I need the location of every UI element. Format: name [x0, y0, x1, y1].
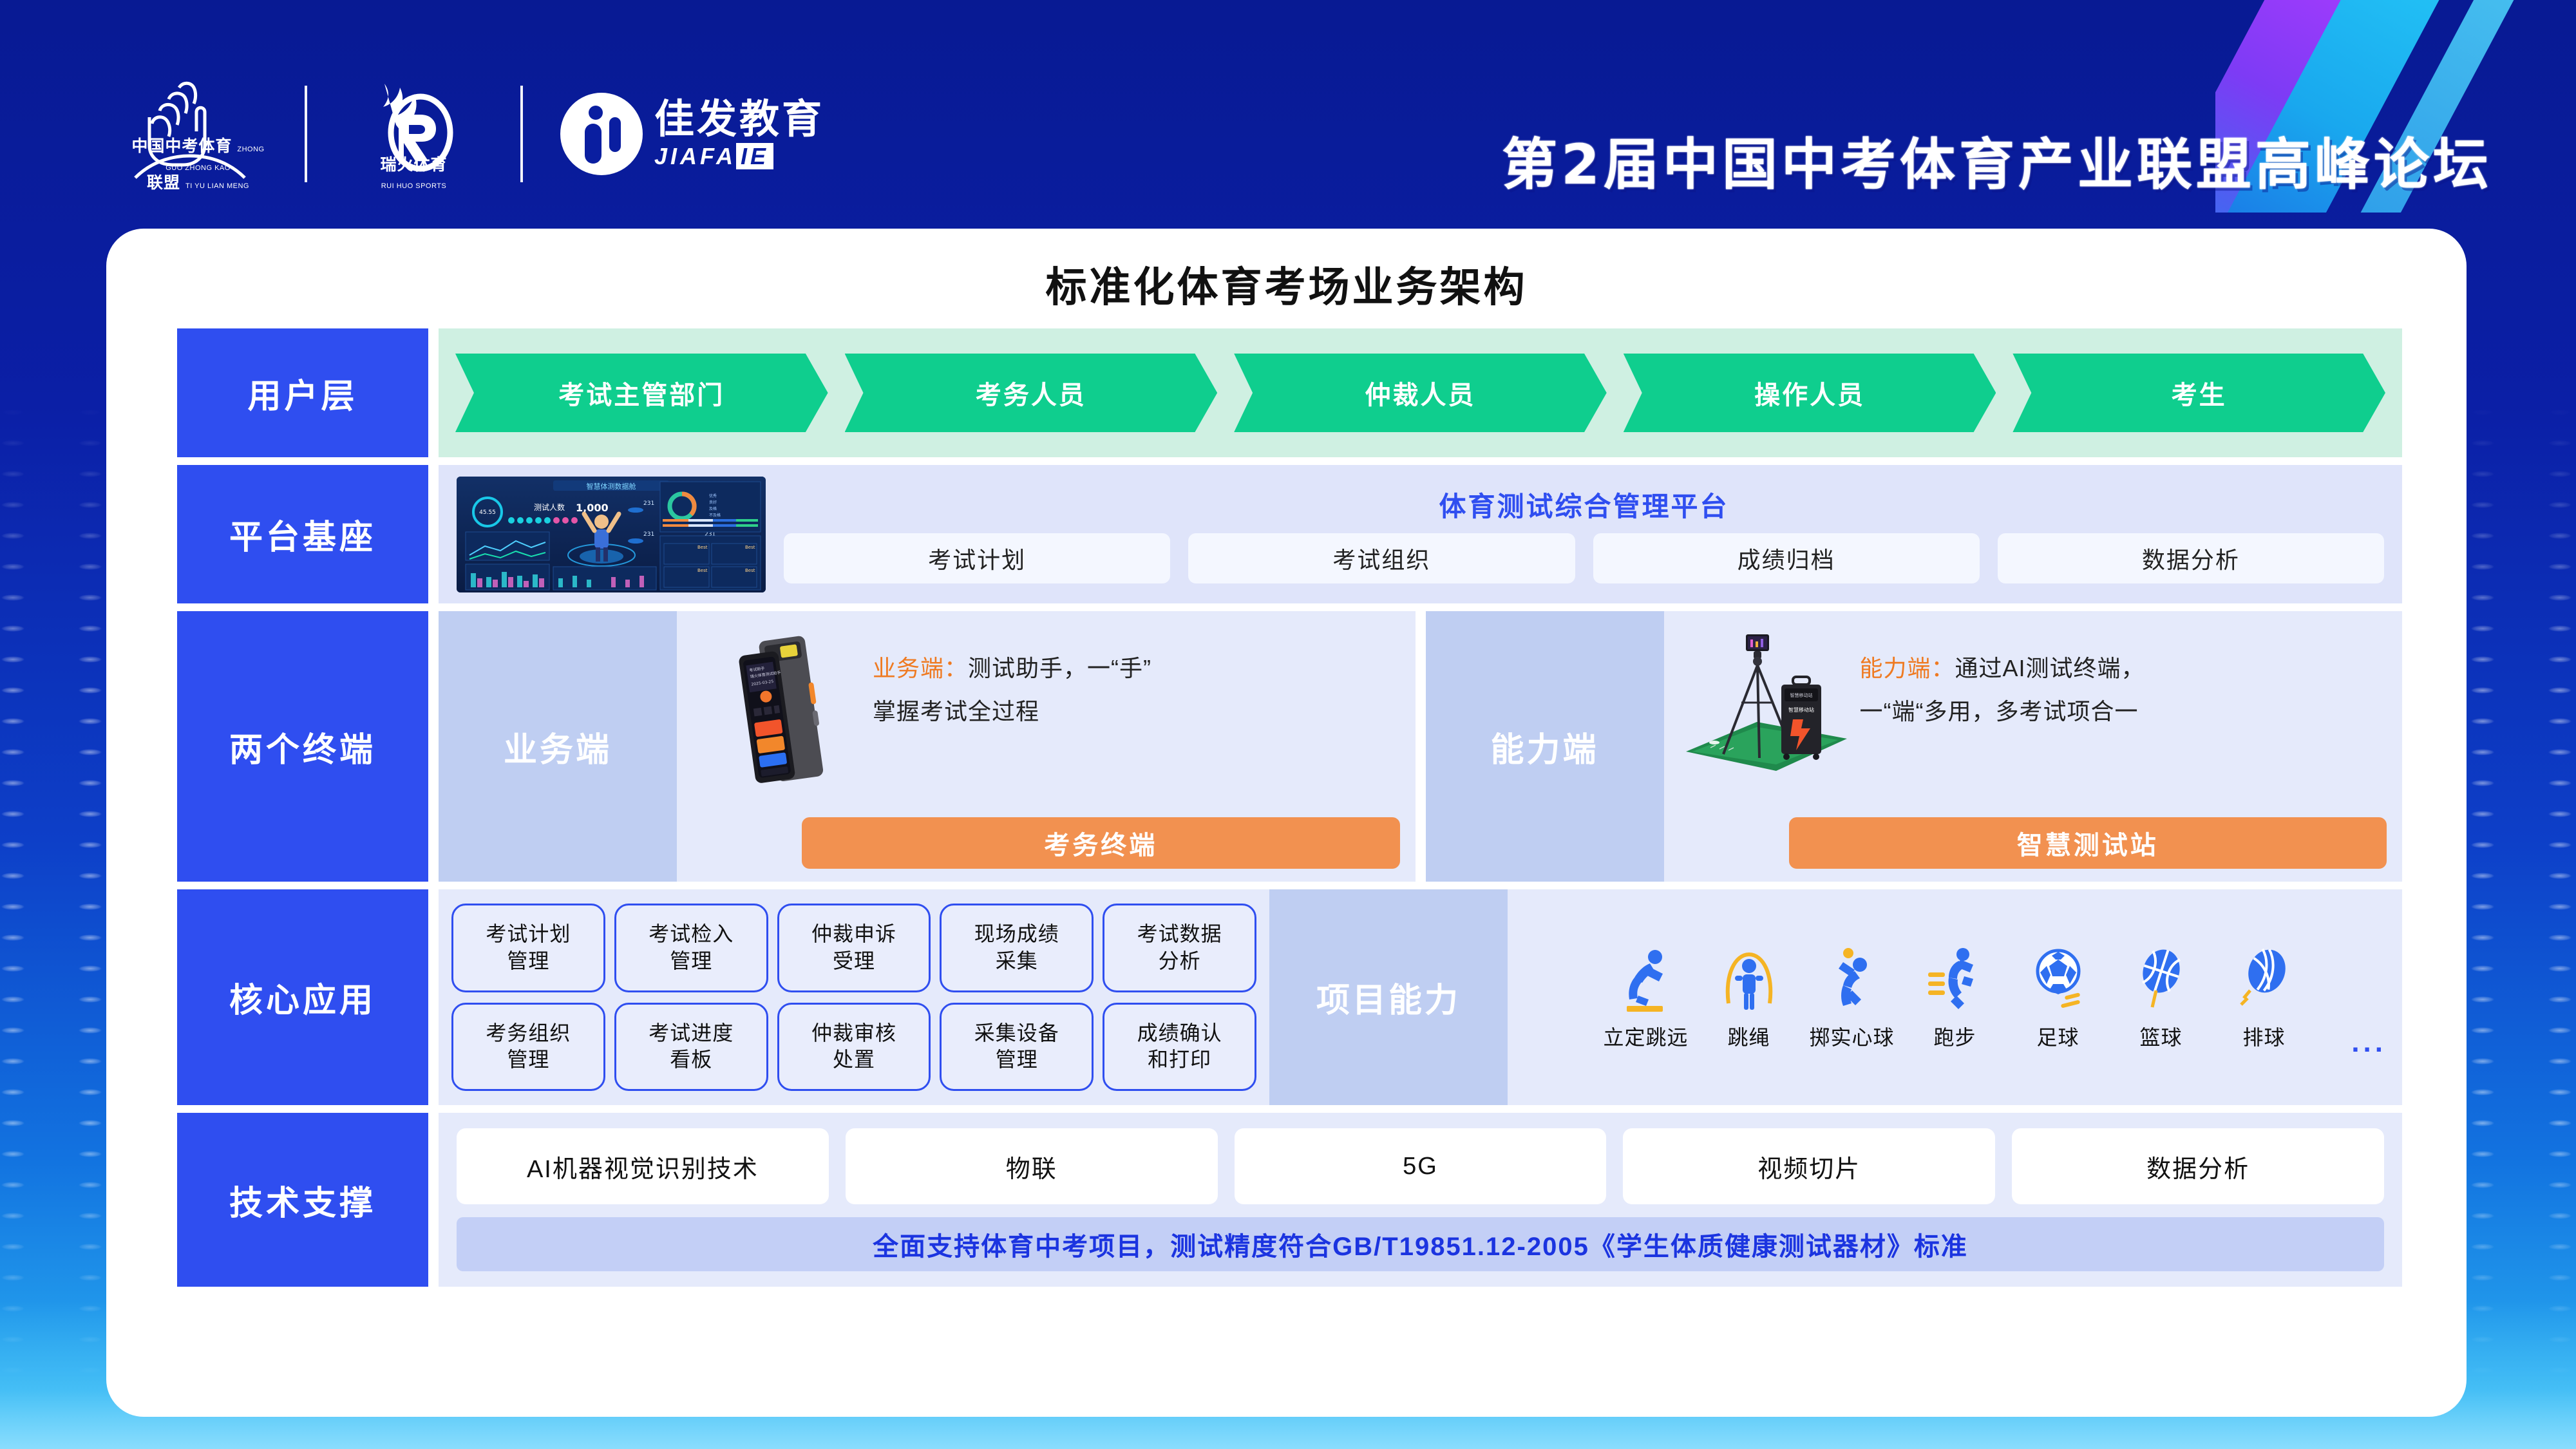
sport-capability-list: 立定跳远 — [1508, 889, 2402, 1105]
terminal-business-desc-line2: 掌握考试全过程 — [873, 698, 1039, 724]
terminal-capability-desc-highlight: 能力端： — [1860, 655, 1955, 681]
core-app-label-line1: 考试检入 — [649, 921, 734, 948]
core-app-label-line1: 考试进度 — [649, 1020, 734, 1047]
alliance-logo-text: 中国中考体育 ZHONG GUO ZHONG KAO 联盟 TI YU LIAN… — [129, 137, 267, 193]
sport-label: 跳绳 — [1727, 1021, 1770, 1051]
svg-text:不及格: 不及格 — [709, 513, 721, 518]
tech-chip-5g[interactable]: 5G — [1235, 1128, 1607, 1204]
row-label-user-layer: 用户层 — [177, 328, 428, 457]
row-user-layer: 用户层 考试主管部门 考务人员 仲裁人员 操作人员 考生 — [177, 328, 2402, 457]
platform-chip-exam-plan[interactable]: 考试计划 — [784, 533, 1170, 583]
row-label-two-terminals: 两个终端 — [177, 611, 428, 882]
football-icon — [2027, 944, 2089, 1015]
terminal-capability-button[interactable]: 智慧测试站 — [1789, 817, 2387, 869]
platform-panel: 智慧体测数据舱 45.55 测试人数 1,000 — [439, 465, 2402, 603]
row-platform-base: 平台基座 智慧体测数据舱 — [177, 465, 2402, 603]
core-app-exam-data-analysis[interactable]: 考试数据 分析 — [1103, 904, 1256, 992]
core-app-row-2: 考务组织 管理 考试进度 看板 仲裁审核 处置 — [451, 1003, 1256, 1092]
core-app-label-line1: 采集设备 — [974, 1020, 1059, 1047]
jiafa-education-logo: 佳发教育 JIAFAIE — [560, 93, 824, 175]
terminal-capability-desc-line1: 通过AI测试终端， — [1955, 655, 2145, 681]
sport-label: 足球 — [2036, 1021, 2079, 1051]
volleyball-icon — [2233, 944, 2295, 1015]
logo-group: 中国中考体育 ZHONG GUO ZHONG KAO 联盟 TI YU LIAN… — [129, 77, 824, 190]
sport-label: 跑步 — [1933, 1021, 1976, 1051]
core-app-arbitration-appeal-acceptance[interactable]: 仲裁申诉 受理 — [777, 904, 931, 992]
rope-skipping-icon — [1718, 944, 1780, 1015]
sport-item-rope-skipping[interactable]: 跳绳 — [1701, 944, 1797, 1051]
terminal-capability-description: 能力端：通过AI测试终端， 一“端“多用，多考试项合一 — [1860, 625, 2387, 733]
row-label-tech-support: 技术支撑 — [177, 1113, 428, 1287]
tech-panel: AI机器视觉识别技术 物联 5G 视频切片 数据分析 全面支持体育中考项目，测试… — [439, 1113, 2402, 1287]
core-app-label-line2: 管理 — [507, 1046, 549, 1074]
terminal-business-description: 业务端：测试助手，一“手” 掌握考试全过程 — [873, 625, 1400, 733]
core-app-exam-plan-management[interactable]: 考试计划 管理 — [451, 904, 605, 992]
sport-label: 篮球 — [2139, 1021, 2182, 1051]
core-app-label-line2: 管理 — [996, 1046, 1038, 1074]
throw-solid-ball-icon — [1821, 944, 1883, 1015]
core-app-label-line2: 分析 — [1159, 948, 1201, 975]
sport-item-basketball[interactable]: 篮球 — [2113, 944, 2210, 1051]
core-app-arbitration-review-handling[interactable]: 仲裁审核 处置 — [777, 1003, 931, 1092]
basketball-icon — [2130, 944, 2192, 1015]
core-app-grid: 考试计划 管理 考试检入 管理 仲裁申诉 受理 — [439, 889, 1269, 1105]
core-app-exam-affairs-organization-management[interactable]: 考务组织 管理 — [451, 1003, 605, 1092]
logo-divider-2 — [520, 86, 523, 182]
ruihuo-logo-text: 瑞火体育 RUI HUO SPORTS — [345, 156, 483, 193]
platform-title: 体育测试综合管理平台 — [1439, 485, 1728, 524]
core-app-label-line2: 受理 — [833, 948, 875, 975]
core-app-label-line1: 考试数据 — [1137, 921, 1222, 948]
jiafa-logo-en: JIAFAIE — [654, 145, 824, 168]
svg-text:智慧移动站: 智慧移动站 — [1790, 692, 1812, 698]
terminal-capability-desc-line2: 一“端“多用，多考试项合一 — [1860, 698, 2139, 724]
jiafa-logo-cn: 佳发教育 — [654, 100, 824, 140]
page-header: 中国中考体育 ZHONG GUO ZHONG KAO 联盟 TI YU LIAN… — [0, 0, 2576, 232]
core-app-exam-checkin-management[interactable]: 考试检入 管理 — [614, 904, 768, 992]
user-layer-items: 考试主管部门 考务人员 仲裁人员 操作人员 考生 — [439, 328, 2402, 457]
svg-text:1,000: 1,000 — [576, 502, 609, 514]
standard-compliance-banner: 全面支持体育中考项目，测试精度符合GB/T19851.12-2005《学生体质健… — [457, 1217, 2384, 1271]
sport-item-volleyball[interactable]: 排球 — [2216, 944, 2313, 1051]
terminal-business-desc-highlight: 业务端： — [873, 655, 968, 681]
user-item-exam-authority[interactable]: 考试主管部门 — [455, 354, 828, 432]
svg-text:优秀: 优秀 — [709, 493, 717, 498]
svg-text:智慧体测数据舱: 智慧体测数据舱 — [587, 482, 636, 491]
tech-chip-data-analysis[interactable]: 数据分析 — [2012, 1128, 2384, 1204]
core-app-row-1: 考试计划 管理 考试检入 管理 仲裁申诉 受理 — [451, 904, 1256, 992]
smart-test-station-image: 智慧移动站 智慧移动站 — [1680, 625, 1853, 799]
svg-text:良好: 良好 — [709, 500, 717, 505]
row-label-platform-base: 平台基座 — [177, 465, 428, 603]
svg-text:智慧移动站: 智慧移动站 — [1788, 706, 1814, 713]
core-app-label-line2: 采集 — [996, 948, 1038, 975]
svg-text:Best: Best — [745, 545, 755, 550]
core-app-label-line2: 管理 — [670, 948, 712, 975]
sport-label: 掷实心球 — [1809, 1021, 1894, 1051]
tech-chip-ai-machine-vision[interactable]: AI机器视觉识别技术 — [457, 1128, 829, 1204]
forum-banner-title: 第2届中国中考体育产业联盟高峰论坛 — [1502, 119, 2492, 200]
core-app-label-line1: 现场成绩 — [974, 921, 1059, 948]
svg-text:45.55: 45.55 — [479, 509, 496, 516]
sport-label: 排球 — [2242, 1021, 2285, 1051]
user-item-examinee[interactable]: 考生 — [2012, 354, 2385, 432]
core-app-onsite-score-collection[interactable]: 现场成绩 采集 — [940, 904, 1094, 992]
page-title: 标准化体育考场业务架构 — [106, 229, 2467, 314]
terminal-capability: 能力端 — [1426, 611, 2403, 882]
row-two-terminals: 两个终端 业务端 — [177, 611, 2402, 882]
core-app-label-line1: 成绩确认 — [1137, 1020, 1222, 1047]
core-app-label-line1: 考务组织 — [486, 1020, 571, 1047]
user-item-operator[interactable]: 操作人员 — [1624, 354, 1996, 432]
core-app-label-line1: 仲裁审核 — [811, 1020, 896, 1047]
sport-item-running[interactable]: 跑步 — [1907, 944, 2003, 1051]
dashboard-screenshot: 智慧体测数据舱 45.55 测试人数 1,000 — [457, 477, 766, 592]
china-zhongkao-alliance-logo: 中国中考体育 ZHONG GUO ZHONG KAO 联盟 TI YU LIAN… — [129, 77, 267, 190]
running-icon — [1924, 944, 1986, 1015]
svg-text:Best: Best — [697, 545, 708, 550]
core-app-collection-device-management[interactable]: 采集设备 管理 — [940, 1003, 1094, 1092]
core-panel: 考试计划 管理 考试检入 管理 仲裁申诉 受理 — [439, 889, 2402, 1105]
terminal-business: 业务端 — [439, 611, 1416, 882]
core-app-label-line2: 处置 — [833, 1046, 875, 1074]
svg-text:Best: Best — [697, 568, 708, 573]
core-app-label-line1: 仲裁申诉 — [811, 921, 896, 948]
user-item-exam-staff[interactable]: 考务人员 — [845, 354, 1218, 432]
capability-label: 项目能力 — [1269, 889, 1508, 1105]
tech-chip-iot[interactable]: 物联 — [846, 1128, 1218, 1204]
handheld-terminal-image: 考试助手瑞火体育测试助手 2025-03-25 — [692, 625, 866, 799]
sport-item-football[interactable]: 足球 — [2010, 944, 2107, 1051]
tech-chip-list: AI机器视觉识别技术 物联 5G 视频切片 数据分析 — [457, 1128, 2384, 1204]
core-app-label-line2: 和打印 — [1148, 1046, 1211, 1074]
user-item-arbitrator[interactable]: 仲裁人员 — [1234, 354, 1607, 432]
core-app-exam-progress-board[interactable]: 考试进度 看板 — [614, 1003, 768, 1092]
core-app-score-confirm-and-print[interactable]: 成绩确认 和打印 — [1103, 1003, 1256, 1092]
svg-text:231: 231 — [643, 531, 654, 538]
sport-list-more-ellipsis: ... — [2351, 1027, 2387, 1059]
architecture-card: 标准化体育考场业务架构 用户层 考试主管部门 考务人员 仲裁人员 操作人员 考生… — [106, 229, 2467, 1417]
row-core-applications: 核心应用 考试计划 管理 考试检入 管理 — [177, 889, 2402, 1105]
platform-chip-exam-organization[interactable]: 考试组织 — [1188, 533, 1575, 583]
sport-item-standing-long-jump[interactable]: 立定跳远 — [1598, 944, 1694, 1051]
platform-chip-score-archive[interactable]: 成绩归档 — [1593, 533, 1980, 583]
terminal-business-name: 业务端 — [439, 611, 677, 882]
core-app-label-line2: 看板 — [670, 1046, 712, 1074]
sport-item-throw-solid-ball[interactable]: 掷实心球 — [1804, 944, 1900, 1051]
platform-chip-list: 考试计划 考试组织 成绩归档 数据分析 — [784, 533, 2384, 583]
platform-chip-data-analysis[interactable]: 数据分析 — [1998, 533, 2384, 583]
row-tech-support: 技术支撑 AI机器视觉识别技术 物联 5G 视频切片 数据分析 全面支持体育中考… — [177, 1113, 2402, 1287]
svg-text:Best: Best — [745, 568, 755, 573]
sport-label: 立定跳远 — [1603, 1021, 1688, 1051]
tech-chip-video-slicing[interactable]: 视频切片 — [1623, 1128, 1995, 1204]
logo-divider-1 — [305, 86, 307, 182]
row-label-core-applications: 核心应用 — [177, 889, 428, 1105]
terminal-business-desc-line1: 测试助手，一“手” — [968, 655, 1151, 681]
svg-text:及格: 及格 — [709, 506, 717, 511]
jiafa-mark-icon — [560, 93, 643, 175]
standing-long-jump-icon — [1615, 944, 1677, 1015]
terminal-business-button[interactable]: 考务终端 — [802, 817, 1400, 869]
core-app-label-line1: 考试计划 — [486, 921, 571, 948]
architecture-grid: 用户层 考试主管部门 考务人员 仲裁人员 操作人员 考生 平台基座 — [177, 328, 2402, 1287]
core-app-label-line2: 管理 — [507, 948, 549, 975]
svg-text:测试人数: 测试人数 — [534, 502, 565, 512]
terminal-capability-name: 能力端 — [1426, 611, 1664, 882]
svg-text:231: 231 — [643, 500, 654, 507]
ruihuo-sports-logo: 瑞火体育 RUI HUO SPORTS — [345, 77, 483, 190]
